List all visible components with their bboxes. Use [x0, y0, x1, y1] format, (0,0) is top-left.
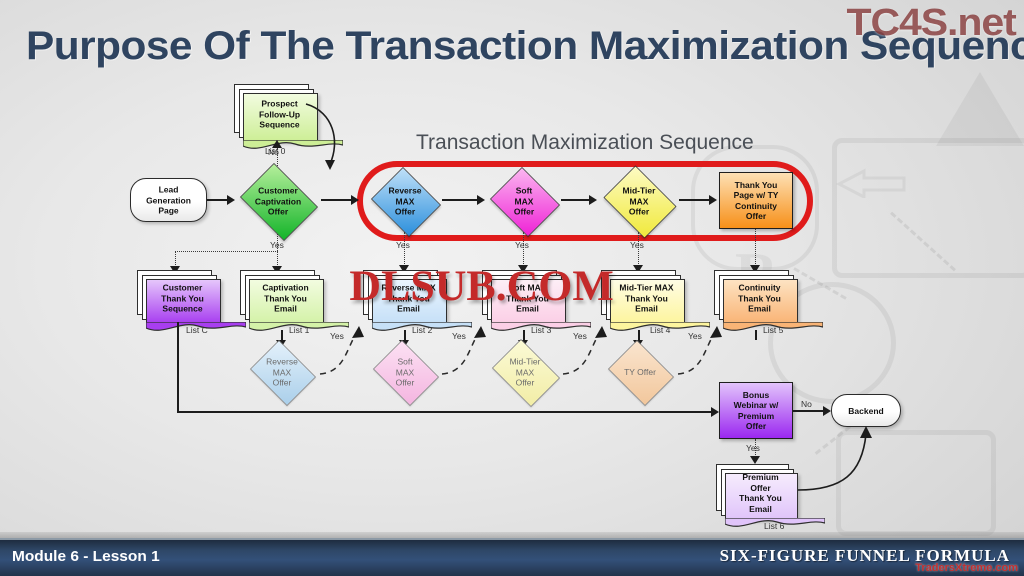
arrowhead [709, 195, 717, 205]
edge-thankyou-down [755, 229, 756, 268]
edge-soft-to-midtier [561, 199, 591, 201]
node-continuity-thank-you-email[interactable]: Continuity Thank You Email [714, 270, 796, 322]
node-label: Bonus Webinar w/ Premium Offer [720, 390, 792, 432]
list-label-2: List 2 [412, 325, 432, 335]
node-soft-max-thank-you-email[interactable]: Soft MAX Thank You Email [482, 270, 564, 322]
edge-label-yes: Yes [688, 331, 702, 341]
edge-yes-soft [523, 232, 524, 268]
list-label-1: List 1 [289, 325, 309, 335]
edge-prospect-loop [300, 98, 360, 178]
doc-sheet-front [372, 279, 447, 324]
edge-captivation-to-reverse [321, 199, 352, 201]
edge-yes-midtier [638, 232, 639, 268]
diamond-shape [490, 167, 560, 237]
arrowhead [589, 195, 597, 205]
node-label: Lead Generation Page [131, 184, 206, 216]
background-doodle-screen [832, 138, 1024, 278]
background-doodle-triangle [936, 72, 1024, 146]
list-label-5: List 5 [763, 325, 783, 335]
edge-reverse-to-soft [442, 199, 479, 201]
edge-label-yes: Yes [515, 240, 529, 250]
node-bonus-webinar[interactable]: Bonus Webinar w/ Premium Offer [719, 382, 793, 439]
node-customer-thank-you-sequence[interactable]: Customer Thank You Sequence [137, 270, 219, 322]
node-mid-tier-max-offer[interactable]: Mid-Tier MAX Offer [599, 170, 679, 232]
edge-yes-reverse [404, 232, 405, 268]
section-label-transaction-maximization-sequence: Transaction Maximization Sequence [416, 131, 754, 155]
edge-label-yes: Yes [746, 443, 760, 453]
arrowhead [351, 195, 359, 205]
doc-sheet-front [725, 473, 798, 520]
edge-yes-captivation [277, 234, 278, 251]
edge-yes-branch-left [175, 251, 278, 252]
edge-label-no: No [801, 399, 812, 409]
arrowhead [477, 195, 485, 205]
list-label-3: List 3 [531, 325, 551, 335]
node-label: Backend [832, 405, 900, 416]
edge-label-yes: Yes [396, 240, 410, 250]
node-reverse-max-thank-you-email[interactable]: Reverse MAX Thank You Email [363, 270, 445, 322]
diamond-shape [492, 339, 560, 407]
node-reverse-max-offer[interactable]: Reverse MAX Offer [368, 170, 442, 232]
edge-continuity-email-down [755, 330, 757, 340]
diamond-shape [604, 166, 677, 239]
node-reverse-max-offer-faded[interactable]: Reverse MAX Offer [246, 344, 318, 400]
node-soft-max-offer-faded[interactable]: Soft MAX Offer [369, 344, 441, 400]
list-label-6: List 6 [764, 521, 784, 531]
doc-sheet-front [491, 279, 566, 324]
diamond-shape [608, 340, 674, 406]
footer-module-lesson: Module 6 - Lesson 1 [12, 548, 160, 565]
edge-customer-seq-down [177, 322, 179, 412]
doc-sheet-front [610, 279, 685, 324]
edge-label-no: No [268, 147, 279, 157]
node-mid-tier-max-offer-faded[interactable]: Mid-Tier MAX Offer [487, 344, 563, 400]
doc-sheet-front [146, 279, 221, 324]
doc-sheet-front [249, 279, 324, 324]
arrowhead [750, 456, 760, 464]
edge-bonus-no-backend [793, 410, 825, 412]
list-label-c: List C [186, 325, 208, 335]
diamond-shape [373, 340, 439, 406]
diamond-shape [250, 340, 316, 406]
node-label: Thank You Page w/ TY Continuity Offer [720, 180, 792, 222]
edge-premium-to-backend [790, 418, 880, 494]
arrowhead [711, 407, 719, 417]
node-captivation-thank-you-email[interactable]: Captivation Thank You Email [240, 270, 322, 322]
edge-lead-to-captivation [207, 199, 229, 201]
node-mid-tier-max-thank-you-email[interactable]: Mid-Tier MAX Thank You Email [601, 270, 683, 322]
slide-canvas: R Purpose Of The Transaction Maximizatio… [0, 0, 1024, 576]
node-thank-you-page[interactable]: Thank You Page w/ TY Continuity Offer [719, 172, 793, 229]
node-lead-generation-page[interactable]: Lead Generation Page [130, 178, 207, 222]
doc-sheet-front [723, 279, 798, 324]
edge-label-yes: Yes [573, 331, 587, 341]
edge-to-bonus-webinar [177, 411, 713, 413]
node-soft-max-offer[interactable]: Soft MAX Offer [487, 170, 561, 232]
edge-label-yes: Yes [452, 331, 466, 341]
watermark-tc4s: TC4S.net [847, 2, 1016, 45]
arrowhead [823, 406, 831, 416]
edge-label-yes: Yes [630, 240, 644, 250]
background-dash-1 [890, 212, 956, 272]
edge-midtier-to-thankyou [679, 199, 711, 201]
arrowhead [227, 195, 235, 205]
background-dash-3 [793, 267, 846, 300]
background-arrow-left-icon [836, 168, 906, 198]
footer-bar: Module 6 - Lesson 1 SIX-FIGURE FUNNEL FO… [0, 538, 1024, 576]
diamond-shape [371, 167, 441, 237]
edge-label-yes: Yes [330, 331, 344, 341]
node-premium-offer-thank-you-email[interactable]: Premium Offer Thank You Email [716, 464, 796, 518]
watermark-tradersxtreme: TradersXtreme.com [915, 562, 1018, 574]
